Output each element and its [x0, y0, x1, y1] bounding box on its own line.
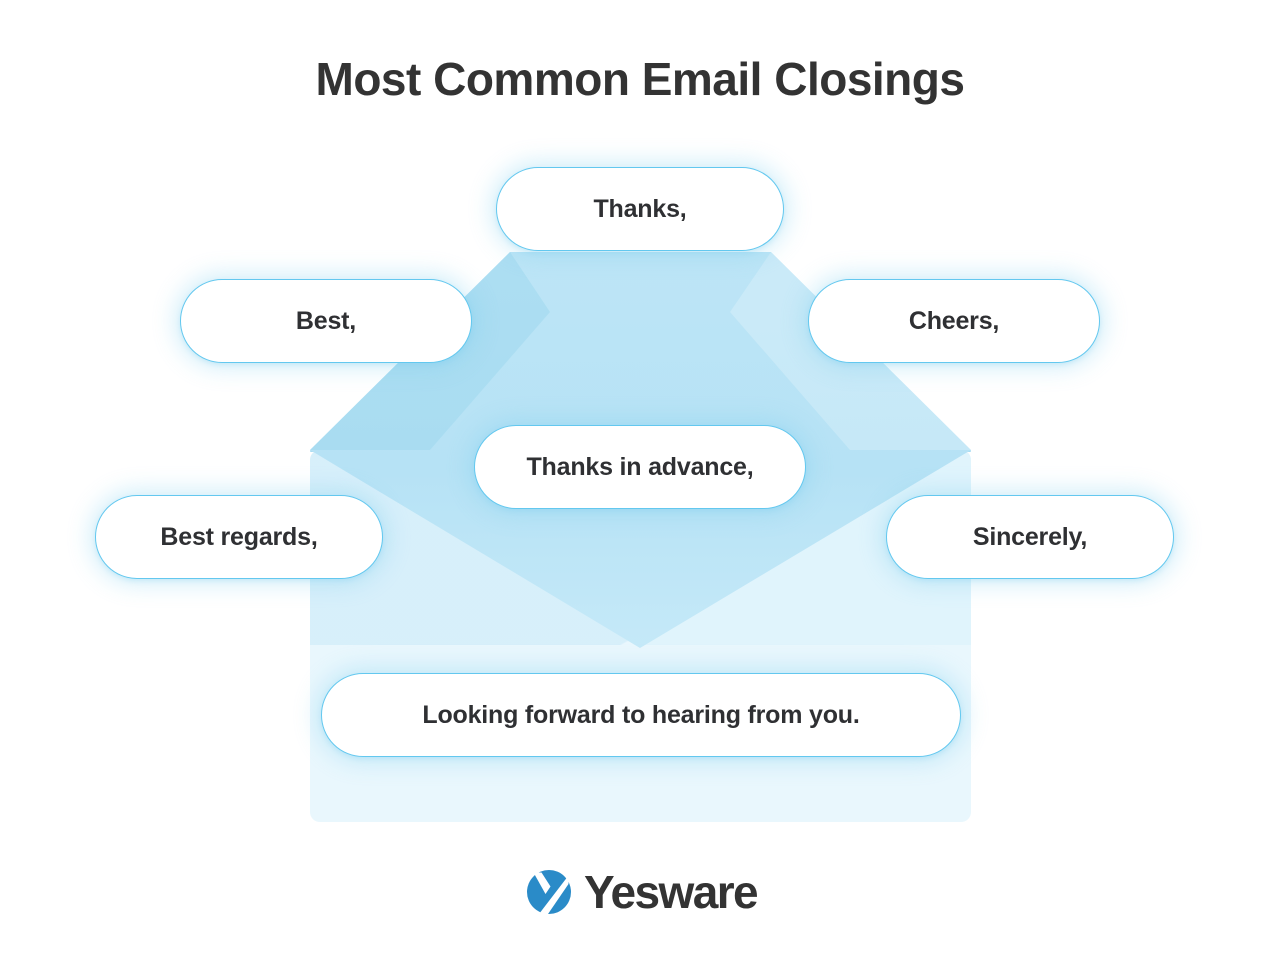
closing-pill-looking-forward[interactable]: Looking forward to hearing from you.: [321, 673, 961, 757]
closing-pill-label: Thanks,: [593, 195, 686, 224]
page-title: Most Common Email Closings: [0, 52, 1280, 107]
yesware-y-circle-icon: [523, 866, 575, 918]
closing-pill-thanks[interactable]: Thanks,: [496, 167, 784, 251]
closing-pill-label: Thanks in advance,: [526, 453, 753, 482]
closing-pill-best[interactable]: Best,: [180, 279, 472, 363]
closing-pill-label: Looking forward to hearing from you.: [422, 701, 859, 730]
closing-pill-label: Best,: [296, 307, 356, 336]
closing-pill-label: Sincerely,: [973, 523, 1087, 552]
logo-wordmark: Yesware: [584, 869, 757, 915]
closing-pill-label: Cheers,: [909, 307, 999, 336]
closing-pill-sincerely[interactable]: Sincerely,: [886, 495, 1174, 579]
closing-pill-thanks-in-advance[interactable]: Thanks in advance,: [474, 425, 806, 509]
brand-logo[interactable]: Yesware: [0, 862, 1280, 922]
closing-pill-label: Best regards,: [160, 523, 317, 552]
closing-pill-cheers[interactable]: Cheers,: [808, 279, 1100, 363]
closing-pill-best-regards[interactable]: Best regards,: [95, 495, 383, 579]
infographic-canvas: Most Common Email Closings Thanks, Best,…: [0, 0, 1280, 954]
